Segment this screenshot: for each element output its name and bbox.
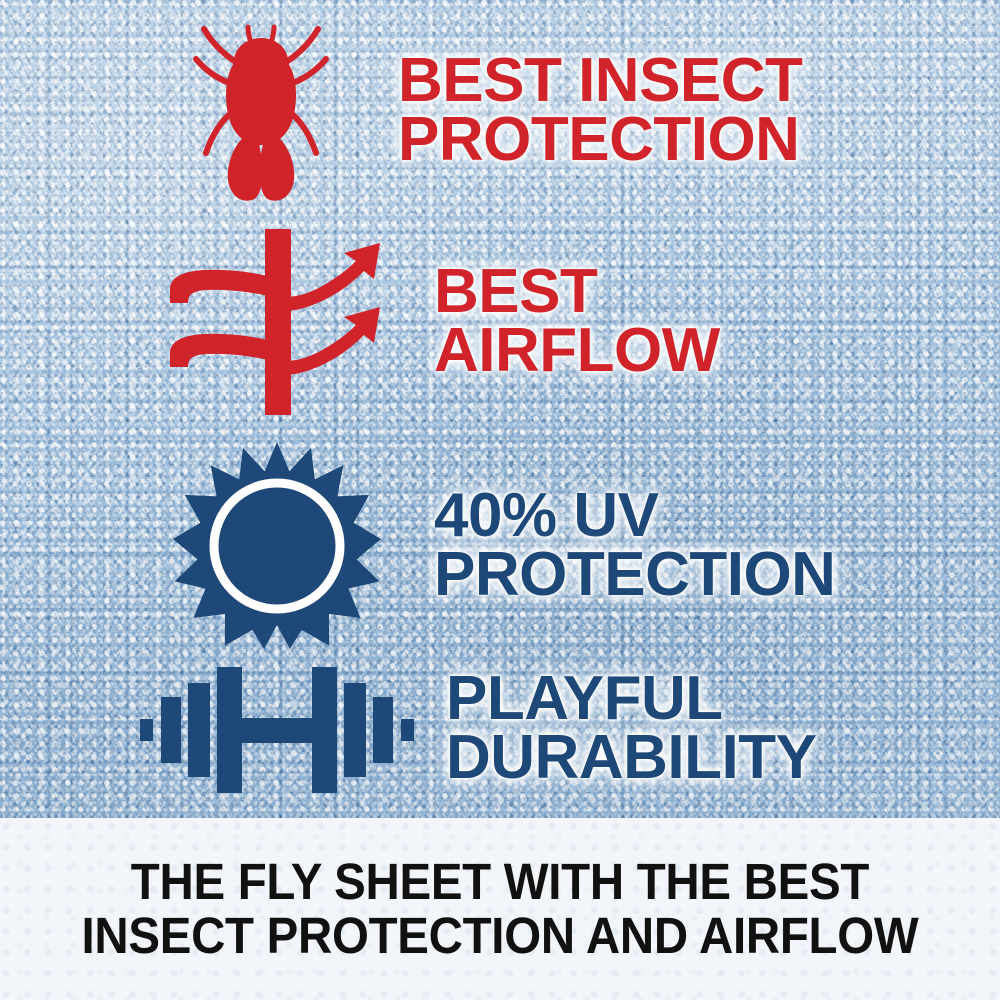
caption-text: THE FLY SHEET WITH THE BEST INSECT PROTE… <box>69 855 932 963</box>
feature-label-durability: PLAYFUL DURABILITY <box>446 670 816 788</box>
feature-row-durability: PLAYFUL DURABILITY <box>138 646 998 812</box>
caption-band: THE FLY SHEET WITH THE BEST INSECT PROTE… <box>0 818 1000 1000</box>
feature-label-insect-protection: BEST INSECT PROTECTION <box>398 52 802 170</box>
feature-row-airflow: BEST AIRFLOW <box>158 222 998 422</box>
feature-label-airflow: BEST AIRFLOW <box>434 263 720 381</box>
dumbbell-icon <box>138 659 416 799</box>
feature-row-insect-protection: BEST INSECT PROTECTION <box>186 14 996 214</box>
sun-icon <box>158 440 396 652</box>
feature-label-uv-protection: 40% UV PROTECTION <box>434 487 835 605</box>
infographic-page: BEST INSECT PROTECTION BEST AIRFLO <box>0 0 1000 1000</box>
fly-icon <box>186 19 336 209</box>
airflow-icon <box>158 227 396 417</box>
feature-row-uv-protection: 40% UV PROTECTION <box>158 436 998 656</box>
